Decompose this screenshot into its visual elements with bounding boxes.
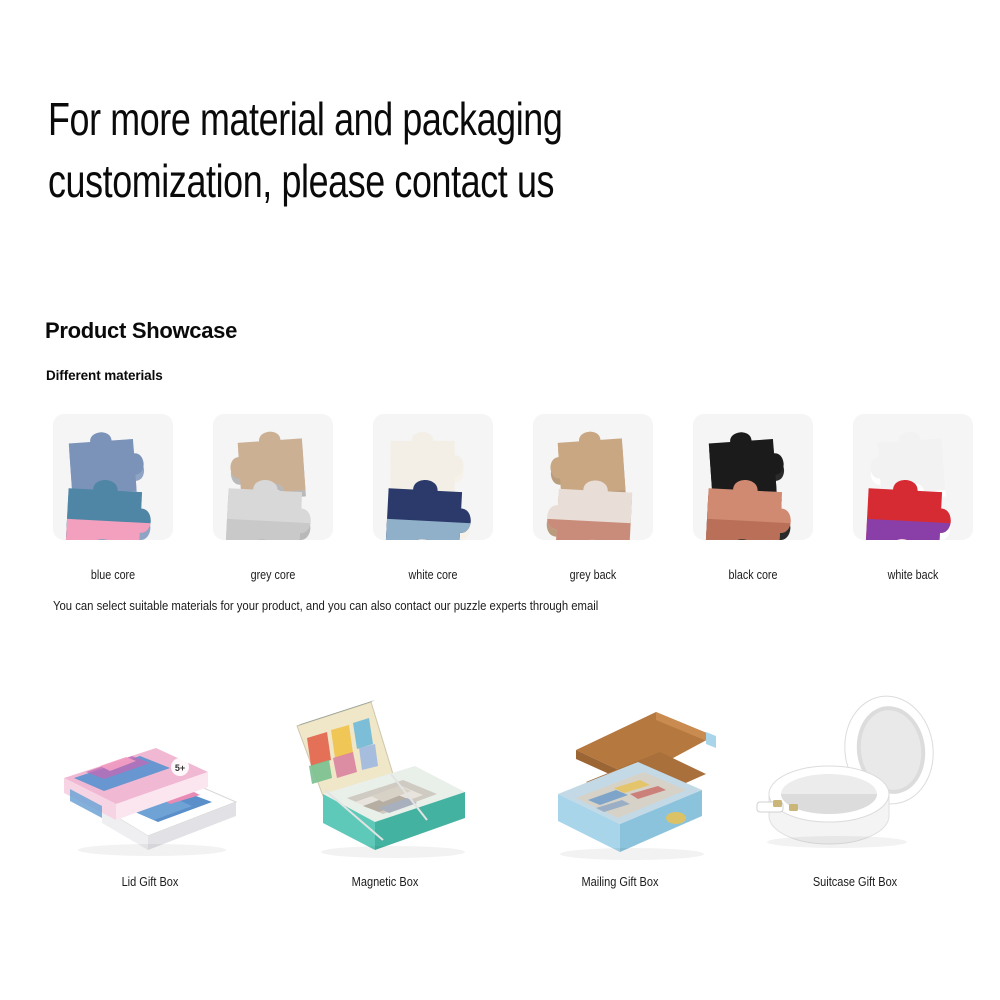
material-label: grey back (541, 568, 644, 582)
material-item[interactable]: blue core (53, 414, 173, 582)
page-root: For more material and packaging customiz… (0, 0, 1000, 1000)
packaging-image[interactable] (745, 690, 965, 870)
material-label: grey core (221, 568, 324, 582)
packaging-image[interactable]: 5+ (40, 690, 260, 870)
packaging-item[interactable]: Mailing Gift Box (510, 690, 730, 905)
material-item[interactable]: white core (373, 414, 493, 582)
packaging-item[interactable]: 5+Lid Gift Box (40, 690, 260, 905)
packaging-label: Magnetic Box (288, 875, 482, 889)
hero-line-1: For more material and packaging (48, 88, 641, 150)
material-label: white core (381, 568, 484, 582)
subsection-title: Different materials (46, 368, 163, 383)
material-item[interactable]: white back (853, 414, 973, 582)
hero-heading: For more material and packaging customiz… (48, 88, 808, 212)
material-item[interactable]: grey back (533, 414, 653, 582)
packaging-label: Lid Gift Box (53, 875, 247, 889)
material-thumbnail[interactable] (853, 414, 973, 540)
packaging-label: Mailing Gift Box (523, 875, 717, 889)
material-thumbnail[interactable] (373, 414, 493, 540)
packaging-label: Suitcase Gift Box (758, 875, 952, 889)
packaging-item[interactable]: Magnetic Box (275, 690, 495, 905)
hero-line-2: customization, please contact us (48, 150, 641, 212)
material-item[interactable]: grey core (213, 414, 333, 582)
materials-list: blue coregrey corewhite coregrey backbla… (53, 414, 953, 584)
packaging-list: 5+Lid Gift BoxMagnetic BoxMailing Gift B… (40, 690, 970, 910)
packaging-image[interactable] (510, 690, 730, 870)
packaging-image[interactable] (275, 690, 495, 870)
materials-note: You can select suitable materials for yo… (53, 598, 598, 613)
material-thumbnail[interactable] (693, 414, 813, 540)
material-thumbnail[interactable] (533, 414, 653, 540)
svg-text:5+: 5+ (175, 763, 185, 773)
material-thumbnail[interactable] (213, 414, 333, 540)
material-item[interactable]: black core (693, 414, 813, 582)
material-label: blue core (61, 568, 164, 582)
packaging-item[interactable]: Suitcase Gift Box (745, 690, 965, 905)
material-thumbnail[interactable] (53, 414, 173, 540)
material-label: white back (861, 568, 964, 582)
material-label: black core (701, 568, 804, 582)
page-title: Product Showcase (45, 318, 237, 344)
